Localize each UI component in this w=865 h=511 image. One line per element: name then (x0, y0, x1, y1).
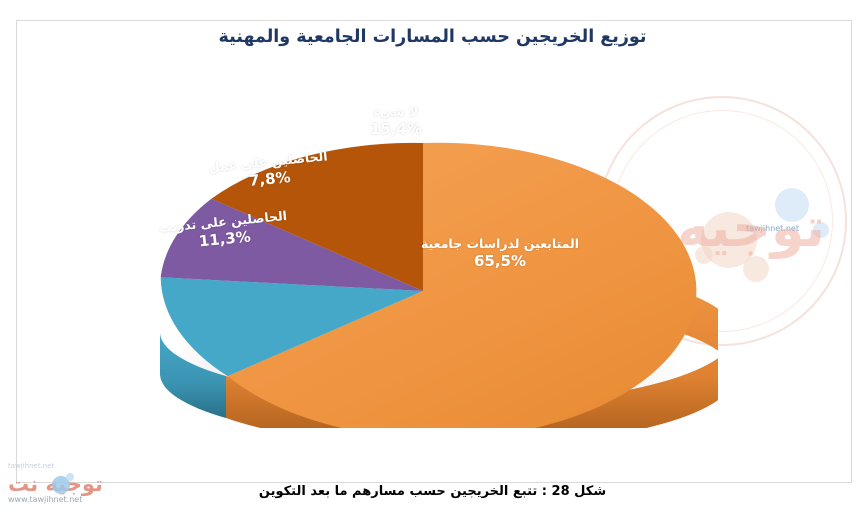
chart-title: توزيع الخريجين حسب المسارات الجامعية وال… (0, 27, 865, 47)
pie-label-studies-name: المتابعين لدراسات جامعية (398, 236, 602, 252)
pie-label-studies: المتابعين لدراسات جامعية 65,5% (398, 236, 602, 270)
pie-label-none: لا شيء 15,4% (330, 104, 462, 138)
chart-page: tawjihnet.net توجيه نت توزيع الخريجين حس… (0, 0, 865, 511)
figure-caption: شكل 28 : تتبع الخريجين حسب مسارهم ما بعد… (0, 484, 865, 499)
pie-label-none-value: 15,4% (330, 120, 462, 139)
pie-label-studies-value: 65,5% (398, 252, 602, 271)
pie-label-none-name: لا شيء (330, 104, 462, 120)
